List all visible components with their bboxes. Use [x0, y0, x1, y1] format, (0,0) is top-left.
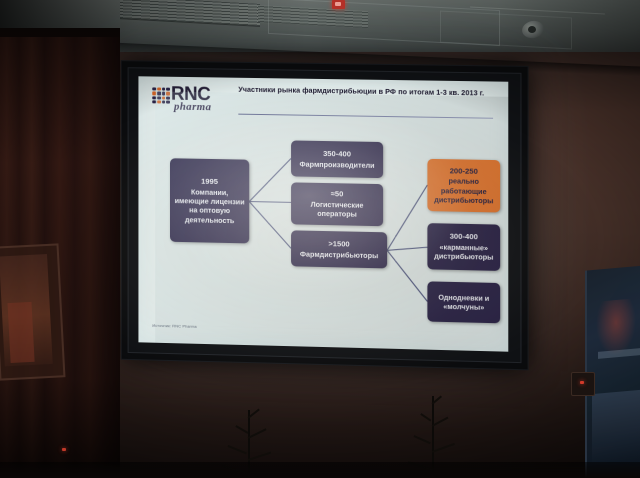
picture-detail	[8, 302, 35, 363]
wall-control-panel[interactable]	[571, 372, 595, 396]
banner-graphic-bottom	[592, 390, 640, 464]
floor-led-icon	[62, 448, 66, 451]
floor-shadow	[0, 462, 640, 478]
conference-room-photo: RNC pharma Участники рынка фармдистрибью…	[0, 0, 640, 478]
wall-panel-led-icon	[580, 381, 584, 384]
framed-picture	[0, 243, 65, 380]
